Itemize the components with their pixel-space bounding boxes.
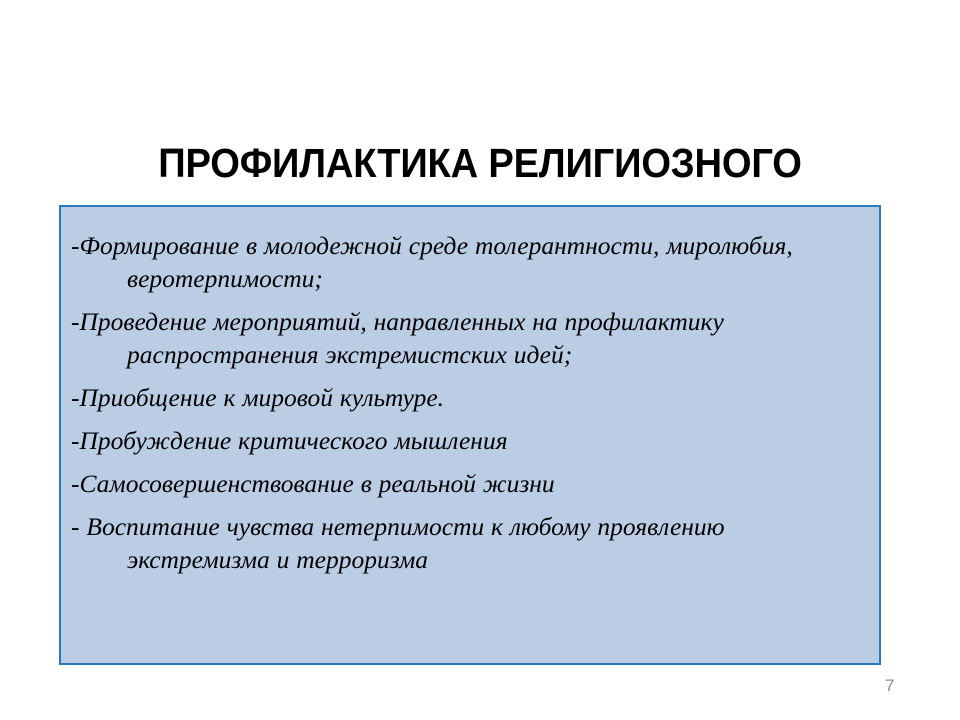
page-title-line-1: ПРОФИЛАКТИКА РЕЛИГИОЗНОГО xyxy=(34,138,927,189)
bullet-item-2: -Проведение мероприятий, направленных на… xyxy=(71,305,869,371)
bullet-item-3: -Приобщение к мировой культуре. xyxy=(71,381,869,414)
content-box: -Формирование в молодежной среде толеран… xyxy=(59,205,881,665)
page-number: 7 xyxy=(885,676,925,696)
bullet-item-1: -Формирование в молодежной среде толеран… xyxy=(71,229,869,295)
bullet-item-5: -Самосовершенствование в реальной жизни xyxy=(71,467,869,500)
bullet-list: -Формирование в молодежной среде толеран… xyxy=(71,229,869,576)
bullet-item-4: -Пробуждение критического мышления xyxy=(71,424,869,457)
bullet-item-6: - Воспитание чувства нетерпимости к любо… xyxy=(71,510,869,576)
slide-canvas: ПРОФИЛАКТИКА РЕЛИГИОЗНОГО ЭКСТРЕМИЗМА И … xyxy=(0,0,960,720)
